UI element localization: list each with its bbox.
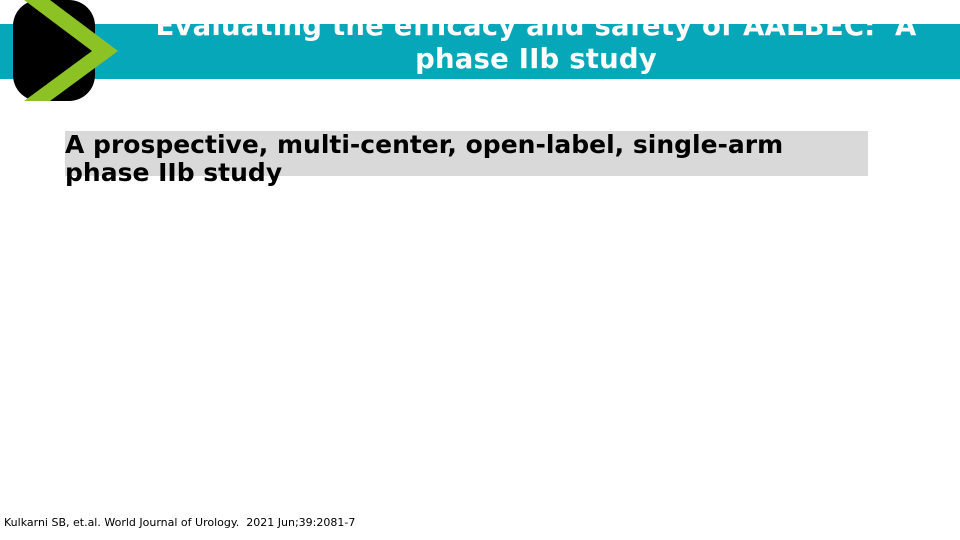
footer-citation: Kulkarni SB, et.al. World Journal of Uro… xyxy=(4,516,355,530)
header-band: Evaluating the efficacy and safety of AA… xyxy=(0,24,960,79)
chevron-logo-icon xyxy=(0,0,118,102)
slide-canvas: Evaluating the efficacy and safety of AA… xyxy=(0,0,960,540)
subtitle-block: A prospective, multi-center, open-label,… xyxy=(65,131,875,187)
page-title: Evaluating the efficacy and safety of AA… xyxy=(0,24,960,76)
subtitle-text: A prospective, multi-center, open-label,… xyxy=(65,131,875,187)
chevron-logo xyxy=(0,0,118,102)
